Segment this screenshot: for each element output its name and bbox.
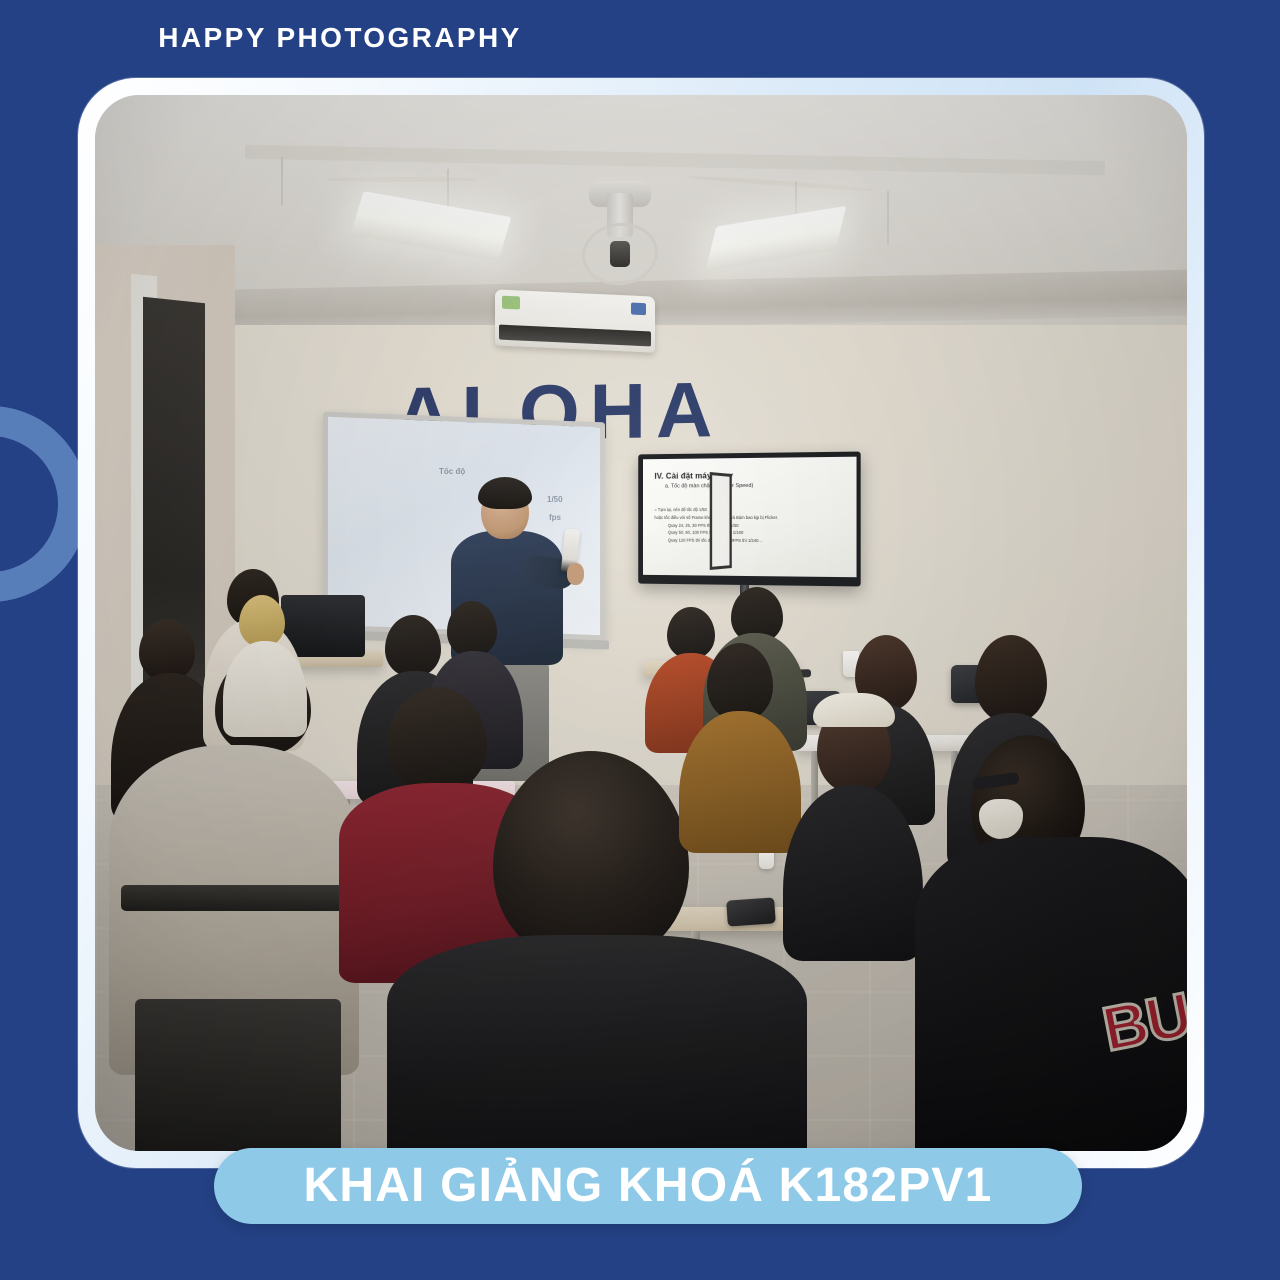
- slide-line: = Tạm lại, nên để tốc độ 1/50: [654, 506, 844, 514]
- student-body: [387, 935, 807, 1151]
- hanging-wire-d: [887, 191, 889, 245]
- whiteboard-note-b: 1/50: [547, 495, 563, 504]
- chair-seat: [135, 999, 341, 1151]
- course-banner-text: KHAI GIẢNG KHOÁ K182PV1: [303, 1162, 992, 1210]
- air-conditioner: [495, 289, 655, 352]
- presentation-display: IV. Cài đặt máy quay a. Tốc độ màn chập …: [635, 453, 859, 585]
- ac-brand-badge: [631, 303, 646, 316]
- tv-bezel: IV. Cài đặt máy quay a. Tốc độ màn chập …: [638, 452, 860, 587]
- ceiling-fan-hub: [610, 241, 630, 267]
- slide-content: IV. Cài đặt máy quay a. Tốc độ màn chập …: [643, 457, 857, 578]
- wall-poster-frame: [710, 472, 732, 570]
- poster-canvas: HAPPY PHOTOGRAPHY ALOHA ACADEMY 2024: [0, 0, 1280, 1280]
- whiteboard-note-c: fps: [549, 513, 561, 522]
- slide-title: IV. Cài đặt máy quay: [654, 470, 844, 481]
- page-title: HAPPY PHOTOGRAPHY: [0, 22, 680, 54]
- student-head: [447, 601, 497, 657]
- classroom-scene: ALOHA Tốc độ 1/50 fps IV. Cài đặt máy qu…: [95, 95, 1187, 1151]
- side-rail: ALOHA ACADEMY 2024: [1192, 0, 1280, 1280]
- hanging-wire-a: [281, 157, 283, 205]
- student-head-blonde: [239, 595, 285, 647]
- ac-vent: [499, 325, 651, 347]
- instructor-hand: [567, 563, 584, 585]
- chair-back: [121, 885, 347, 911]
- baseball-cap: [813, 693, 895, 727]
- varsity-jacket-text: BU: [1097, 979, 1187, 1065]
- ceiling-conduit-a: [327, 177, 477, 182]
- student-head: [385, 615, 441, 677]
- course-banner: KHAI GIẢNG KHOÁ K182PV1: [214, 1148, 1082, 1224]
- slide-subtitle: a. Tốc độ màn chập (Shutter Speed): [665, 482, 844, 489]
- slide-line: Quay 120 FPS thì tốc độ 1/120, 240FPS th…: [668, 537, 844, 546]
- student-head: [707, 643, 773, 721]
- decorative-arc: [0, 406, 88, 602]
- slide-body: = Tạm lại, nên để tốc độ 1/50 hoặc tốc đ…: [654, 506, 844, 546]
- smartphone: [726, 897, 776, 926]
- ac-energy-label: [502, 296, 520, 310]
- photo-frame: ALOHA Tốc độ 1/50 fps IV. Cài đặt máy qu…: [78, 78, 1204, 1168]
- tv-screen: IV. Cài đặt máy quay a. Tốc độ màn chập …: [643, 457, 857, 578]
- student-head: [139, 619, 195, 681]
- classroom-photo: ALOHA Tốc độ 1/50 fps IV. Cài đặt máy qu…: [95, 95, 1187, 1151]
- whiteboard-note-a: Tốc độ: [439, 467, 465, 476]
- student-head: [667, 607, 715, 659]
- student-head: [975, 635, 1047, 723]
- slide-line: hoặc tốc điều với số Frame khi quay NPK …: [654, 514, 844, 522]
